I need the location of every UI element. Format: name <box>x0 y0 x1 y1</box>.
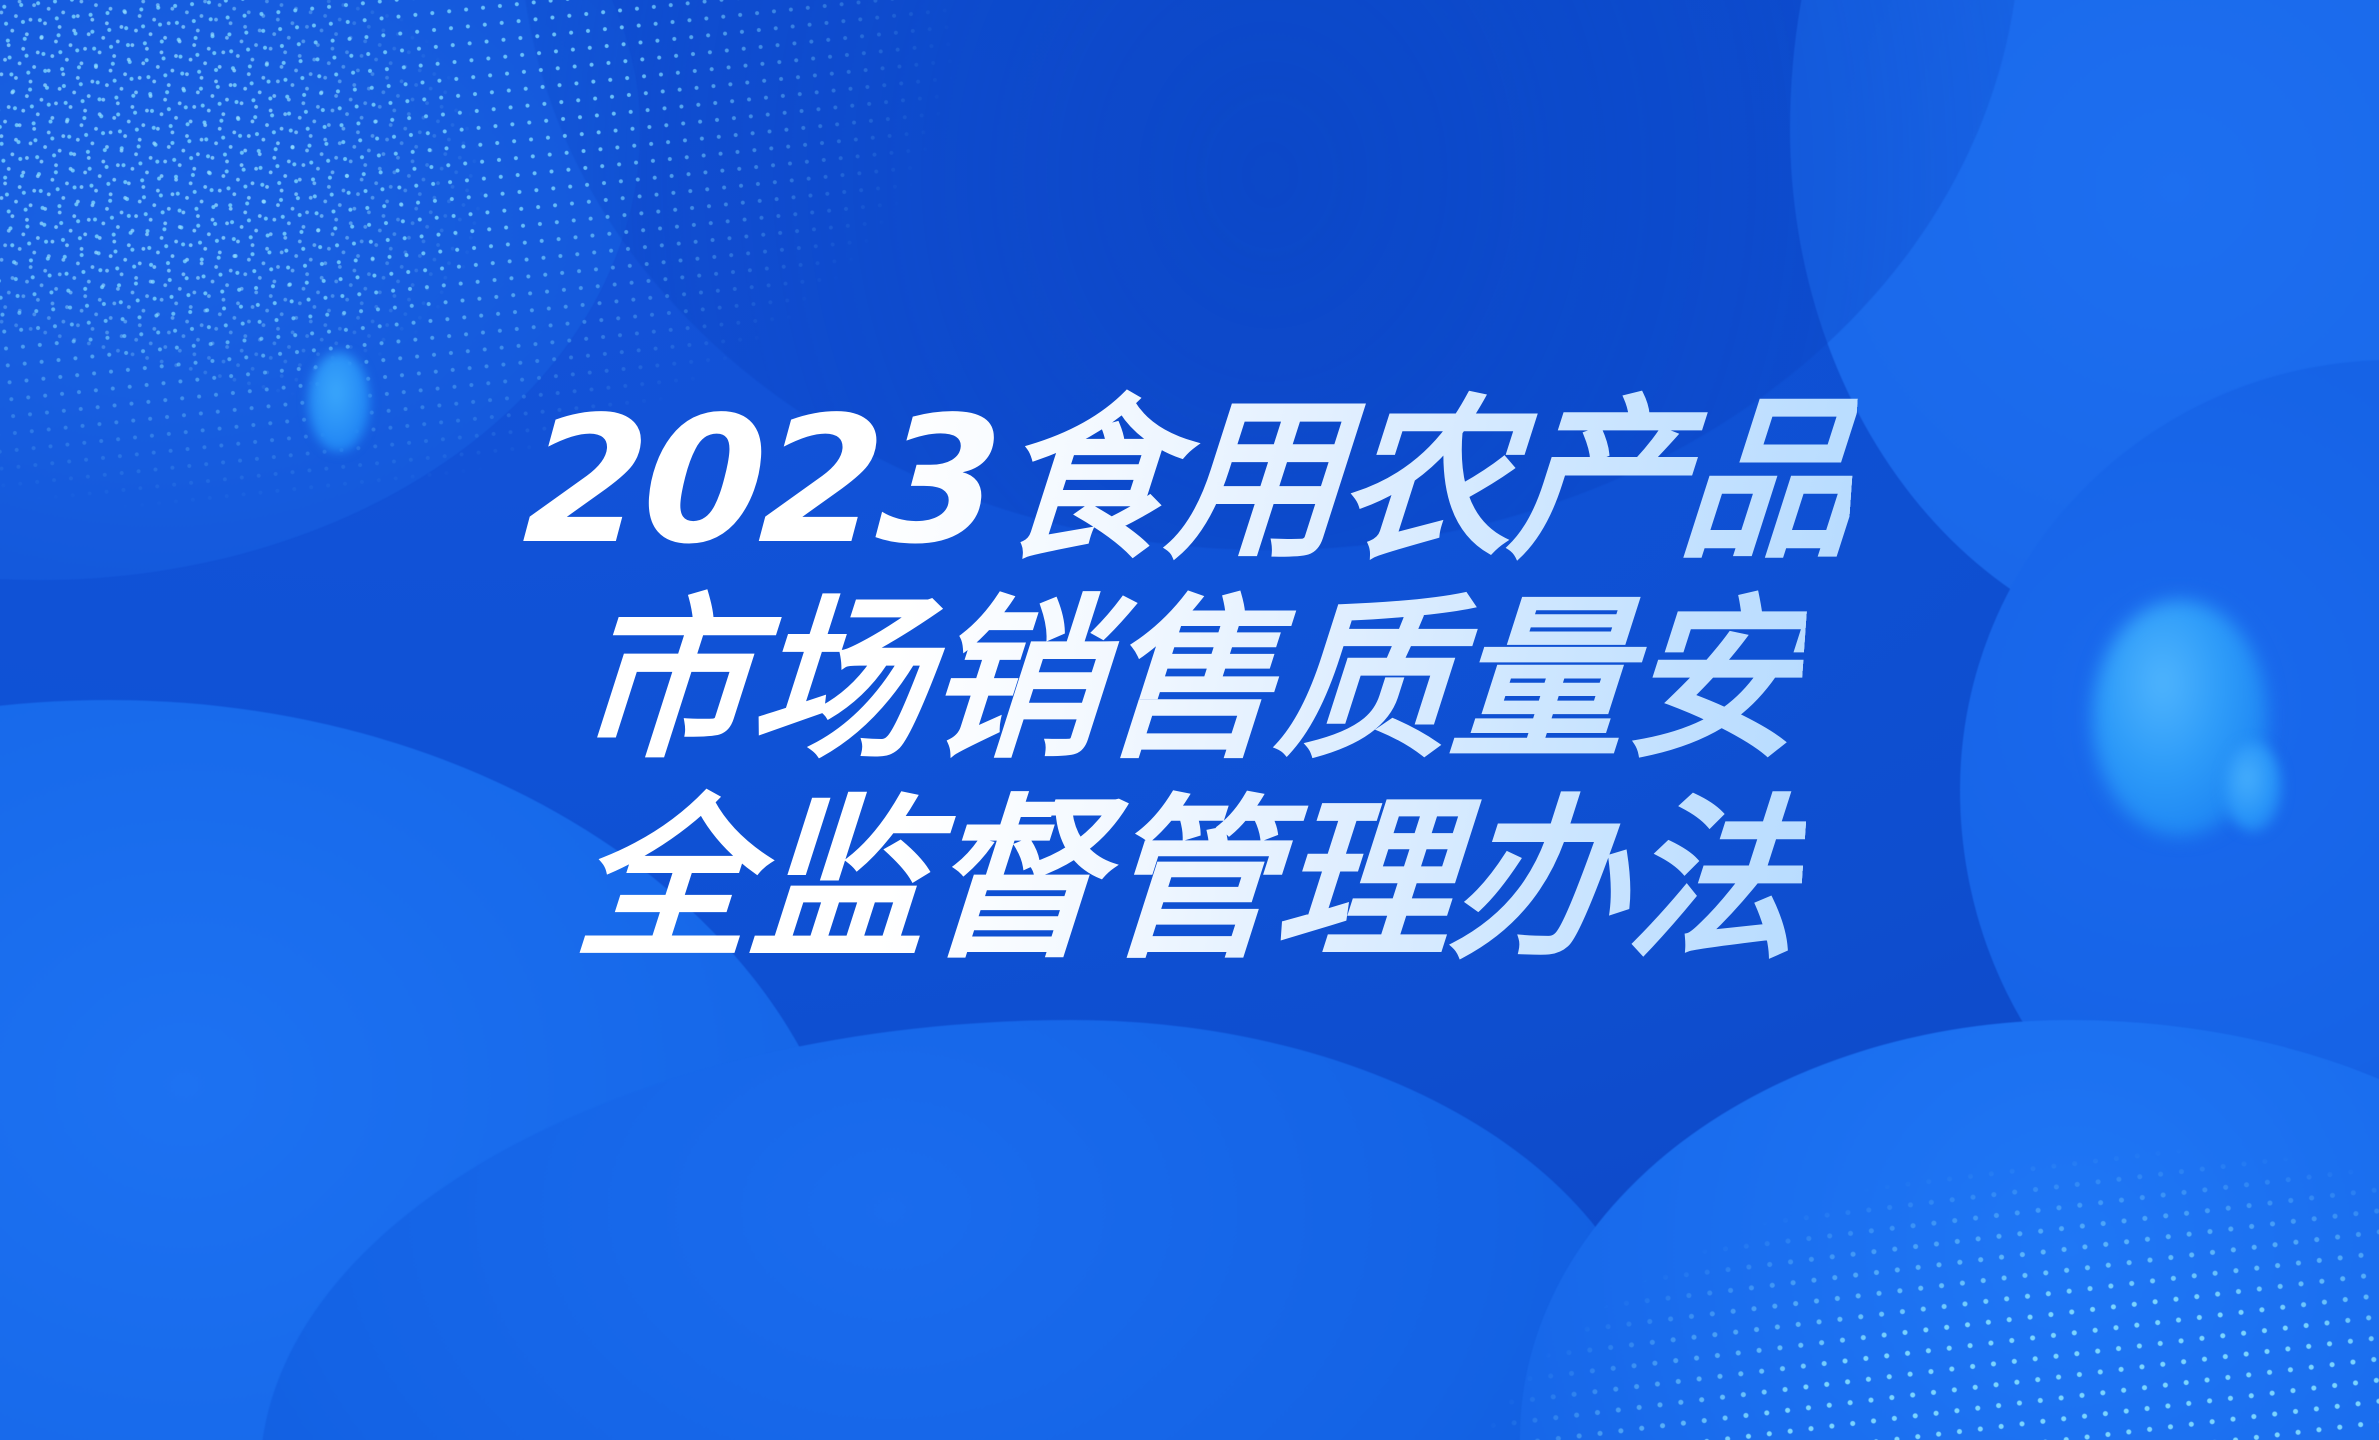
title-line-3: 全监督管理办法 <box>570 782 1809 982</box>
poster-canvas: 2023食用农产品 市场销售质量安 全监督管理办法 <box>0 0 2379 1440</box>
poster-title: 2023食用农产品 市场销售质量安 全监督管理办法 <box>0 382 2379 982</box>
title-line-1: 2023食用农产品 <box>519 382 1859 582</box>
title-line-2: 市场销售质量安 <box>570 582 1809 782</box>
